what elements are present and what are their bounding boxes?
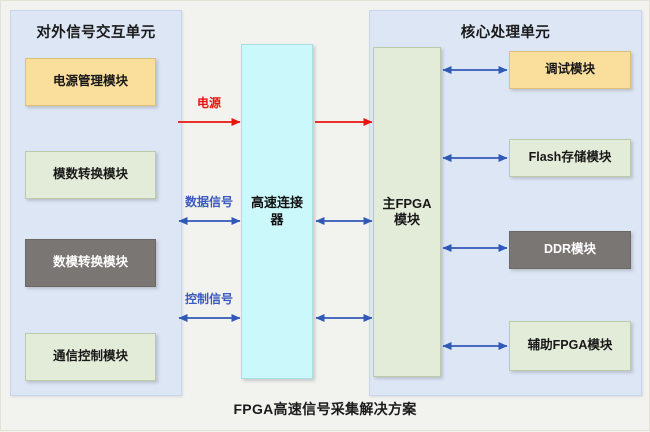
diagram-caption: FPGA高速信号采集解决方案 bbox=[1, 399, 649, 419]
diagram-canvas: 对外信号交互单元 电源管理模块 模数转换模块 数模转换模块 通信控制模块 高速连… bbox=[0, 0, 650, 431]
signal-label-data: 数据信号 bbox=[173, 193, 245, 210]
signal-label-control: 控制信号 bbox=[173, 290, 245, 307]
signal-label-power: 电源 bbox=[178, 94, 240, 111]
connector-arrows-layer bbox=[1, 1, 650, 432]
